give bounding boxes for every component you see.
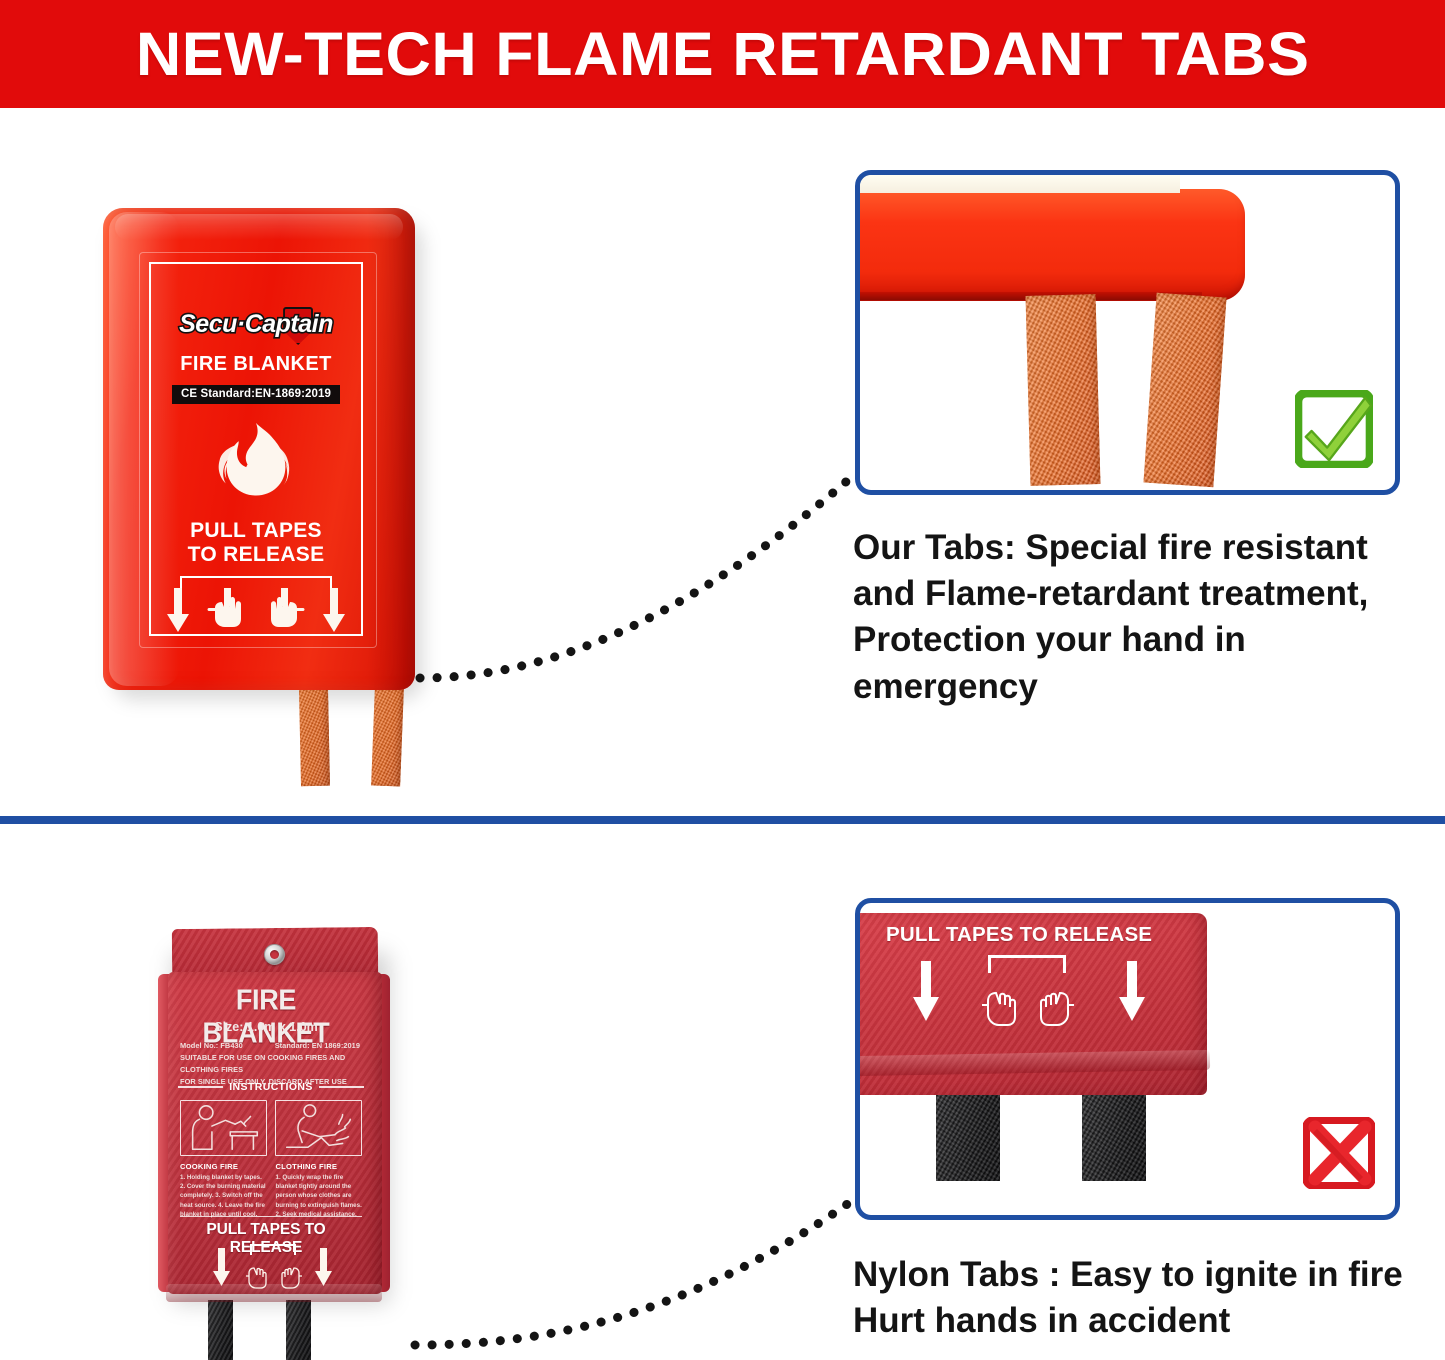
pouch-size: Size: 1.0m x 1.0m bbox=[172, 1020, 360, 1034]
down-arrow-icon bbox=[314, 1248, 333, 1288]
person-clothing-fire-icon bbox=[275, 1100, 362, 1156]
orange-tab-right bbox=[371, 687, 404, 786]
nylon-tabs-caption: Nylon Tabs : Easy to ignite in fire Hurt… bbox=[853, 1252, 1438, 1343]
infographic-page: NEW-TECH FLAME RETARDANT TABS Secu·Capta… bbox=[0, 0, 1445, 1360]
pouch-body: FIRE BLANKET Size: 1.0m x 1.0m Model No.… bbox=[158, 928, 390, 1306]
panel-pull-text: PULL TAPES TO RELEASE bbox=[886, 923, 1152, 947]
certification-badge: CE Standard:EN-1869:2019 bbox=[172, 385, 340, 404]
down-arrow-icon bbox=[1118, 961, 1146, 1023]
down-arrow-icon bbox=[212, 1248, 231, 1288]
pouch-pictograms bbox=[180, 1100, 362, 1156]
our-tabs-panel bbox=[855, 170, 1400, 495]
brand-logo: Secu·Captain bbox=[179, 310, 333, 339]
our-tabs-caption: Our Tabs: Special fire resistant and Fla… bbox=[853, 525, 1433, 710]
box-bottom-edge bbox=[855, 189, 1245, 301]
flame-icon bbox=[196, 416, 316, 511]
pouch-model-no: Model No.: FB430 bbox=[180, 1040, 243, 1052]
nylon-pouch-photo: FIRE BLANKET Size: 1.0m x 1.0m Model No.… bbox=[150, 928, 410, 1360]
clothing-fire-heading: CLOTHING FIRE bbox=[276, 1162, 365, 1171]
orange-tab-closeup-left bbox=[1026, 294, 1101, 486]
connector-line-bottom bbox=[410, 1175, 880, 1355]
pouch-usage-1: SUITABLE FOR USE ON COOKING FIRES AND CL… bbox=[180, 1052, 360, 1076]
pulling-hands-icon bbox=[246, 1266, 302, 1292]
person-cooking-fire-icon bbox=[180, 1100, 267, 1156]
box-lid-lip bbox=[115, 214, 403, 240]
black-nylon-tab-right bbox=[286, 1300, 311, 1360]
pulling-hand-icon bbox=[264, 588, 306, 634]
clothing-fire-column: CLOTHING FIRE 1. Quickly wrap the fire b… bbox=[276, 1162, 365, 1219]
panel-tape-bracket-icon bbox=[988, 955, 1066, 973]
green-check-icon bbox=[1295, 390, 1373, 468]
box-label: Secu·Captain FIRE BLANKET CE Standard:EN… bbox=[149, 262, 363, 636]
page-header: NEW-TECH FLAME RETARDANT TABS bbox=[0, 0, 1445, 108]
pull-icon-row bbox=[165, 588, 347, 634]
brand-logo-text: Secu·Captain bbox=[179, 310, 333, 339]
down-arrow-icon bbox=[165, 588, 191, 634]
section-divider bbox=[0, 816, 1445, 824]
cooking-fire-column: COOKING FIRE 1. Holding blanket by tapes… bbox=[180, 1162, 269, 1219]
orange-tab-closeup-right bbox=[1143, 293, 1226, 487]
pouch-standard: Standard: EN 1869:2019 bbox=[275, 1040, 360, 1052]
cooking-fire-heading: COOKING FIRE bbox=[180, 1162, 269, 1171]
product-box-photo: Secu·Captain FIRE BLANKET CE Standard:EN… bbox=[103, 208, 423, 788]
product-name: FIRE BLANKET bbox=[180, 353, 331, 376]
black-tab-closeup-right bbox=[1082, 1091, 1146, 1181]
connector-line-top bbox=[415, 450, 875, 690]
clothing-fire-steps: 1. Quickly wrap the fire blanket tightly… bbox=[276, 1173, 365, 1219]
pouch-instructions-header: INSTRUCTIONS bbox=[178, 1081, 364, 1093]
page-title: NEW-TECH FLAME RETARDANT TABS bbox=[136, 19, 1310, 89]
black-tab-closeup-left bbox=[936, 1091, 1000, 1181]
pulling-hands-icon bbox=[982, 989, 1074, 1029]
release-instruction: PULL TAPES TO RELEASE bbox=[188, 519, 325, 567]
pulling-hand-icon bbox=[206, 588, 248, 634]
down-arrow-icon bbox=[912, 961, 940, 1023]
nylon-tabs-panel: PULL TAPES TO RELEASE bbox=[855, 898, 1400, 1220]
red-x-icon bbox=[1303, 1117, 1375, 1189]
cooking-fire-steps: 1. Holding blanket by tapes. 2. Cover th… bbox=[180, 1173, 269, 1219]
orange-tab-left bbox=[299, 688, 330, 787]
box-body: Secu·Captain FIRE BLANKET CE Standard:EN… bbox=[103, 208, 415, 690]
pouch-instruction-columns: COOKING FIRE 1. Holding blanket by tapes… bbox=[180, 1162, 364, 1219]
black-nylon-tab-left bbox=[208, 1300, 233, 1360]
down-arrow-icon bbox=[321, 588, 347, 634]
pouch-tape-bracket-icon bbox=[250, 1244, 296, 1255]
hanging-grommet-icon bbox=[264, 944, 285, 965]
pouch-divider-rule bbox=[180, 1216, 362, 1217]
